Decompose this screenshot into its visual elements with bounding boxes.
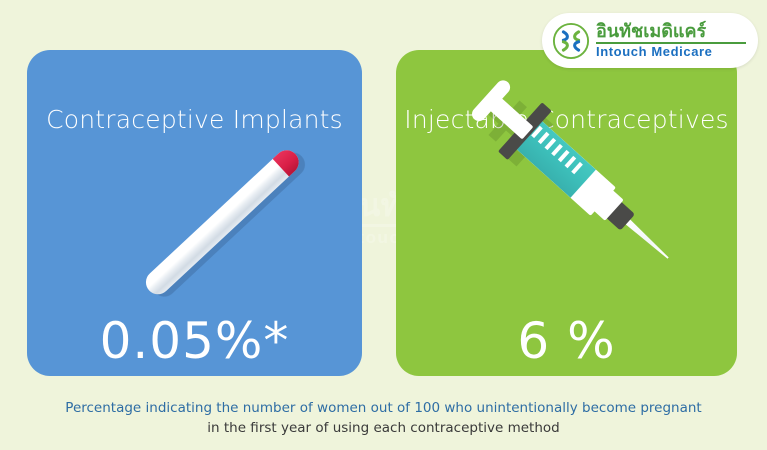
caption-line-1: Percentage indicating the number of wome… (0, 398, 767, 418)
implant-rod-highlight (154, 158, 283, 279)
card-injectable-contraceptives[interactable]: Injectable Contraceptives 6 % (396, 50, 737, 376)
card-contraceptive-implants[interactable]: Contraceptive Implants 0.05%* (27, 50, 362, 376)
card-value-injectables: 6 % (396, 312, 737, 370)
brand-english-name: Intouch Medicare (596, 45, 746, 59)
brand-thai-name: อินทัชเมดิแคร์ (596, 22, 746, 41)
intouch-medicare-emblem-icon (552, 22, 590, 60)
caption: Percentage indicating the number of wome… (0, 398, 767, 439)
brand-logo-text: อินทัชเมดิแคร์ Intouch Medicare (596, 22, 746, 59)
caption-line-2: in the first year of using each contrace… (0, 418, 767, 438)
implant-rod-body (141, 145, 304, 299)
card-value-implants: 0.05%* (27, 312, 362, 370)
syringe-needle (623, 217, 671, 261)
brand-logo-badge[interactable]: อินทัชเมดิแคร์ Intouch Medicare (542, 13, 758, 68)
infographic-canvas: อินทัชเมดิแคร์ Intouch Medicare Contrace… (0, 0, 767, 450)
